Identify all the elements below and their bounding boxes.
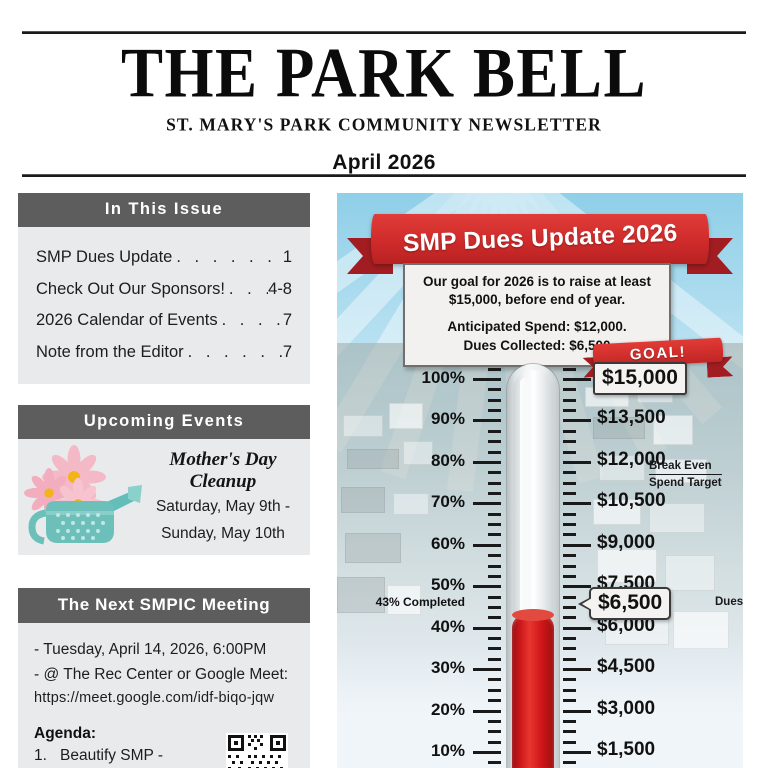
dues-amount-callout: $6,500 — [589, 587, 671, 620]
masthead-bottom-rule — [22, 174, 746, 177]
thermometer-mercury-fill — [512, 614, 554, 768]
axis-tick-major — [563, 502, 591, 505]
event-title-line2: Cleanup — [150, 471, 296, 493]
meeting-location: - @ The Rec Center or Google Meet: — [34, 662, 294, 687]
percent-tick-label: 10% — [431, 741, 465, 761]
list-item[interactable]: Check Out Our Sponsors! . . . . . . 4-8 — [36, 281, 292, 298]
axis-tick-minor — [563, 451, 576, 454]
watering-can-with-flowers-icon — [22, 441, 150, 553]
axis-tick-minor — [563, 606, 576, 609]
upcoming-events-heading: Upcoming Events — [18, 405, 310, 439]
axis-tick-minor — [563, 399, 576, 402]
break-even-line1: Break Even — [649, 459, 722, 473]
axis-tick-minor — [488, 440, 501, 443]
axis-tick-major — [473, 502, 501, 505]
axis-tick-minor — [563, 440, 576, 443]
percent-tick-label: 20% — [431, 700, 465, 720]
axis-tick-minor — [488, 689, 501, 692]
axis-tick-minor — [563, 409, 576, 412]
percent-tick-label: 60% — [431, 534, 465, 554]
axis-tick-major — [563, 710, 591, 713]
axis-tick-minor — [488, 699, 501, 702]
axis-tick-minor — [488, 368, 501, 371]
masthead-date: April 2026 — [0, 151, 768, 175]
goal-statement: Our goal for 2026 is to raise at least $… — [415, 273, 659, 309]
agenda-item-text: Beautify SMP - — [60, 747, 163, 765]
axis-tick-minor — [488, 492, 501, 495]
axis-tick-minor — [563, 533, 576, 536]
axis-tick-minor — [488, 647, 501, 650]
axis-tick-minor — [488, 616, 501, 619]
axis-tick-minor — [488, 761, 501, 764]
toc-dot-leader: . . . . . . — [225, 281, 268, 298]
next-meeting-panel: The Next SMPIC Meeting - Tuesday, April … — [18, 588, 310, 768]
axis-tick-minor — [488, 430, 501, 433]
axis-tick-minor — [488, 565, 501, 568]
amount-tick-label: $13,500 — [597, 407, 666, 429]
list-item[interactable]: Note from the Editor . . . . . . . . . 7 — [36, 344, 292, 361]
axis-tick-major — [563, 751, 591, 754]
break-even-line2: Spend Target — [649, 474, 722, 490]
toc-entry-label: SMP Dues Update — [36, 249, 172, 266]
axis-tick-minor — [563, 513, 576, 516]
meeting-link[interactable]: https://meet.google.com/idf-biqo-jqw — [34, 687, 294, 710]
event-date-line1: Saturday, May 9th - — [150, 496, 296, 518]
axis-tick-major — [473, 461, 501, 464]
axis-tick-major — [473, 710, 501, 713]
axis-tick-minor — [563, 647, 576, 650]
dues-thermometer-infographic: SMP Dues Update 2026 Our goal for 2026 i… — [337, 193, 743, 768]
axis-tick-minor — [563, 554, 576, 557]
toc-entry-label: Check Out Our Sponsors! — [36, 281, 225, 298]
axis-tick-major — [563, 419, 591, 422]
axis-tick-minor — [563, 482, 576, 485]
goal-amount-callout: $15,000 — [593, 362, 687, 395]
axis-tick-minor — [488, 523, 501, 526]
axis-tick-minor — [488, 554, 501, 557]
axis-tick-minor — [488, 730, 501, 733]
axis-tick-minor — [488, 533, 501, 536]
axis-tick-minor — [488, 720, 501, 723]
percent-tick-label: 100% — [422, 368, 465, 388]
axis-tick-minor — [563, 761, 576, 764]
amount-tick-label: $1,500 — [597, 739, 655, 761]
axis-tick-minor — [563, 523, 576, 526]
axis-tick-minor — [488, 388, 501, 391]
next-meeting-body: - Tuesday, April 14, 2026, 6:00PM - @ Th… — [18, 623, 310, 768]
break-even-note: Break Even Spend Target — [649, 459, 722, 491]
toc-dot-leader: . . . . . . . . . — [184, 344, 283, 361]
masthead: THE PARK BELL ST. MARY'S PARK COMMUNITY … — [0, 36, 768, 175]
percent-tick-label: 30% — [431, 658, 465, 678]
list-item[interactable]: SMP Dues Update . . . . . . . . . . 1 — [36, 249, 292, 266]
list-item[interactable]: 2026 Calendar of Events . . . . . . . 7 — [36, 312, 292, 329]
axis-tick-major — [473, 751, 501, 754]
axis-tick-minor — [563, 637, 576, 640]
toc-entry-page: 7 — [283, 344, 292, 361]
agenda-item-number: 1. — [34, 747, 60, 765]
percent-tick-label: 90% — [431, 409, 465, 429]
page-title: THE PARK BELL — [0, 36, 768, 110]
axis-tick-minor — [563, 596, 576, 599]
percent-tick-label: 50% — [431, 575, 465, 595]
toc-entry-label: 2026 Calendar of Events — [36, 312, 218, 329]
axis-tick-minor — [563, 471, 576, 474]
completed-percentage-note: 43% Completed — [376, 595, 465, 609]
axis-tick-minor — [563, 730, 576, 733]
axis-tick-major — [473, 585, 501, 588]
upcoming-events-text: Mother's Day Cleanup Saturday, May 9th -… — [150, 449, 300, 546]
axis-tick-major — [563, 668, 591, 671]
toc-entry-page: 4-8 — [268, 281, 292, 298]
axis-tick-major — [563, 627, 591, 630]
toc-entry-page: 1 — [283, 249, 292, 266]
axis-tick-minor — [563, 616, 576, 619]
anticipated-spend-line: Anticipated Spend: $12,000. — [415, 318, 659, 336]
thermometer-fill-cap — [512, 609, 554, 621]
axis-tick-minor — [563, 430, 576, 433]
axis-tick-minor — [488, 606, 501, 609]
axis-tick-minor — [563, 699, 576, 702]
in-this-issue-heading: In This Issue — [18, 193, 310, 227]
toc-entry-label: Note from the Editor — [36, 344, 184, 361]
axis-tick-minor — [488, 678, 501, 681]
axis-tick-minor — [563, 658, 576, 661]
upcoming-events-panel: Upcoming Events — [18, 405, 310, 555]
axis-tick-minor — [488, 575, 501, 578]
thermometer-tube — [507, 364, 559, 768]
ribbon-body: SMP Dues Update 2026 — [371, 214, 709, 264]
axis-tick-minor — [488, 409, 501, 412]
infographic-title: SMP Dues Update 2026 — [402, 220, 677, 259]
axis-tick-major — [563, 461, 591, 464]
axis-tick-major — [473, 544, 501, 547]
percent-tick-label: 40% — [431, 617, 465, 637]
axis-tick-minor — [563, 368, 576, 371]
amount-tick-label: $3,000 — [597, 698, 655, 720]
dues-collected-note: Dues Collected — [715, 595, 743, 609]
axis-tick-major — [473, 378, 501, 381]
axis-tick-minor — [563, 689, 576, 692]
newsletter-page: THE PARK BELL ST. MARY'S PARK COMMUNITY … — [0, 0, 768, 768]
event-title-line1: Mother's Day — [150, 449, 296, 471]
upcoming-events-body: Mother's Day Cleanup Saturday, May 9th -… — [18, 439, 310, 555]
axis-tick-major — [563, 544, 591, 547]
axis-tick-major — [563, 378, 591, 381]
toc-dot-leader: . . . . . . . . . . — [172, 249, 282, 266]
percent-tick-label: 80% — [431, 451, 465, 471]
axis-tick-minor — [563, 678, 576, 681]
axis-tick-major — [563, 585, 591, 588]
axis-tick-minor — [563, 388, 576, 391]
percent-tick-label: 70% — [431, 492, 465, 512]
next-meeting-heading: The Next SMPIC Meeting — [18, 588, 310, 623]
axis-tick-minor — [488, 471, 501, 474]
axis-tick-major — [473, 419, 501, 422]
axis-tick-minor — [488, 451, 501, 454]
axis-tick-minor — [488, 596, 501, 599]
axis-tick-minor — [488, 637, 501, 640]
axis-tick-major — [473, 627, 501, 630]
axis-tick-minor — [563, 741, 576, 744]
axis-tick-minor — [488, 482, 501, 485]
toc-dot-leader: . . . . . . . — [218, 312, 283, 329]
qr-code-icon[interactable] — [226, 733, 288, 768]
goal-flag-label: GOAL! — [629, 343, 686, 363]
masthead-subtitle: ST. MARY'S PARK COMMUNITY NEWSLETTER — [0, 114, 768, 136]
axis-tick-minor — [488, 513, 501, 516]
meeting-datetime: - Tuesday, April 14, 2026, 6:00PM — [34, 637, 294, 662]
axis-tick-minor — [563, 492, 576, 495]
axis-tick-minor — [563, 720, 576, 723]
amount-tick-label: $10,500 — [597, 490, 666, 512]
toc-entry-page: 7 — [283, 312, 292, 329]
in-this-issue-body: SMP Dues Update . . . . . . . . . . 1 Ch… — [18, 227, 310, 384]
amount-tick-label: $9,000 — [597, 532, 655, 554]
axis-tick-minor — [563, 575, 576, 578]
axis-tick-minor — [488, 658, 501, 661]
in-this-issue-panel: In This Issue SMP Dues Update . . . . . … — [18, 193, 310, 384]
axis-tick-minor — [488, 399, 501, 402]
event-date-line2: Sunday, May 10th — [150, 523, 296, 545]
amount-tick-label: $4,500 — [597, 656, 655, 678]
axis-tick-minor — [563, 565, 576, 568]
axis-tick-major — [473, 668, 501, 671]
axis-tick-minor — [488, 741, 501, 744]
